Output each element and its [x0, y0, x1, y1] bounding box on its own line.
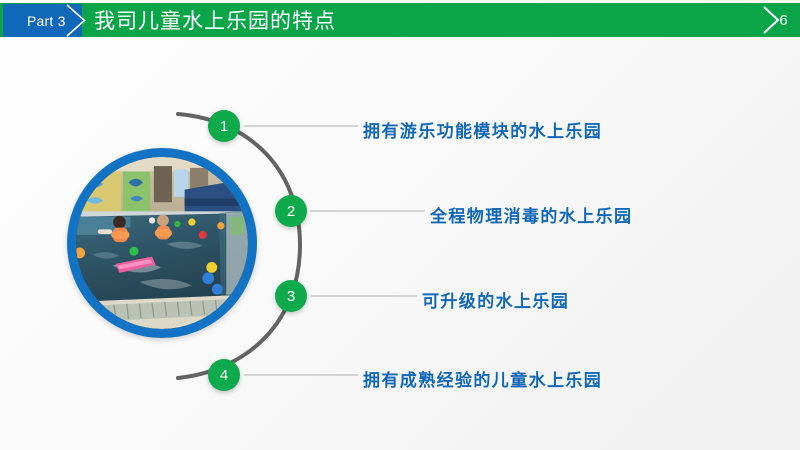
part-tag-chevron-icon	[66, 4, 86, 37]
page-number: 6	[758, 3, 794, 37]
pool-photo-illustration	[76, 157, 248, 329]
step-node-3[interactable]: 3	[275, 280, 307, 312]
feature-label-3: 可升级的水上乐园	[422, 287, 569, 312]
feature-label-2: 全程物理消毒的水上乐园	[430, 202, 632, 227]
page-title: 我司儿童水上乐园的特点	[94, 3, 336, 37]
slide-canvas: 6 Part 3 我司儿童水上乐园的特点	[0, 0, 800, 450]
step-node-4-number: 4	[220, 367, 228, 384]
photo-circle	[67, 148, 257, 338]
step-node-1-number: 1	[220, 118, 228, 135]
step-node-2[interactable]: 2	[275, 195, 307, 227]
part-tag-label: Part 3	[27, 13, 66, 29]
step-node-3-number: 3	[287, 288, 295, 305]
pool-photo	[76, 157, 248, 329]
feature-label-1: 拥有游乐功能模块的水上乐园	[363, 117, 602, 142]
step-node-2-number: 2	[287, 203, 295, 220]
step-node-4[interactable]: 4	[208, 359, 240, 391]
feature-label-4: 拥有成熟经验的儿童水上乐园	[363, 366, 602, 391]
step-node-1[interactable]: 1	[208, 110, 240, 142]
